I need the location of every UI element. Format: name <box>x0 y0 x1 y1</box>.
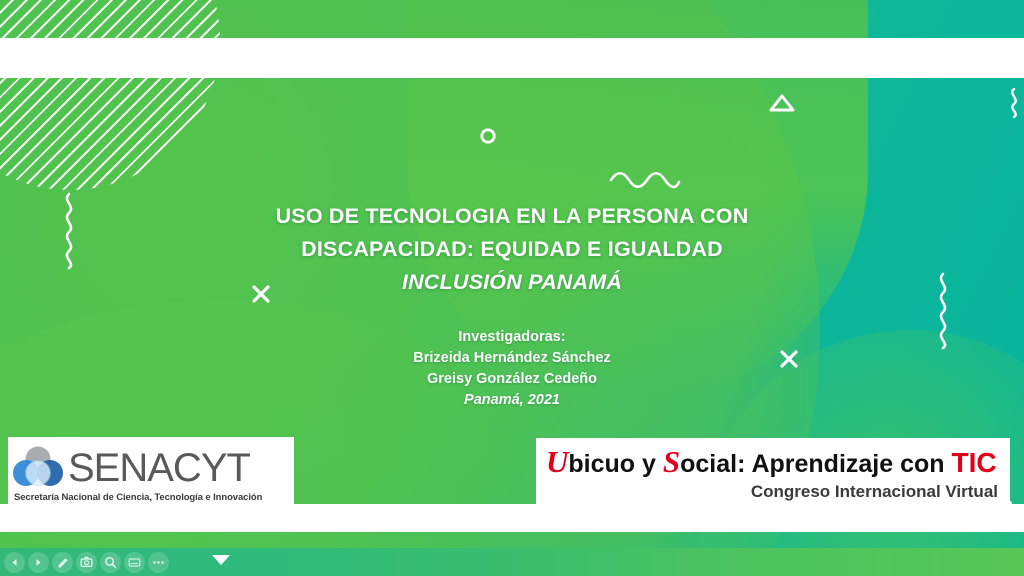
ubicuo-subtitle: Congreso Internacional Virtual <box>546 481 998 503</box>
triangle-right-icon <box>33 557 44 568</box>
senacyt-tagline: Secretaría Nacional de Ciencia, Tecnolog… <box>12 492 290 503</box>
more-options-button[interactable] <box>148 552 169 573</box>
ubicuo-social-logo: Ubicuo y Social: Aprendizaje con TIC Con… <box>536 438 1010 510</box>
presentation-viewer: USO DE TECNOLOGIA EN LA PERSONA CON DISC… <box>0 0 1024 576</box>
ellipsis-icon <box>152 560 165 565</box>
senacyt-emblem-icon <box>12 445 64 491</box>
subtitles-button[interactable] <box>124 552 145 573</box>
squiggle-corner-icon <box>1006 88 1022 118</box>
title-line-3: INCLUSIÓN PANAMÁ <box>0 266 1024 299</box>
camera-icon <box>80 556 93 568</box>
ubicuo-ocial: ocial: <box>680 450 751 478</box>
next-slide-button[interactable] <box>28 552 49 573</box>
ubicuo-u-letter: U <box>546 444 568 479</box>
ubicuo-bicuo-y: bicuo y <box>568 450 662 478</box>
author-name-1: Brizeida Hernández Sánchez <box>0 348 1024 369</box>
ubicuo-tic: TIC <box>951 447 996 478</box>
collapse-toolbar-caret[interactable] <box>208 549 234 575</box>
slide-canvas: USO DE TECNOLOGIA EN LA PERSONA CON DISC… <box>0 0 1024 548</box>
authors-block: Investigadoras: Brizeida Hernández Sánch… <box>0 327 1024 411</box>
ubicuo-a-letter: A <box>751 450 769 478</box>
ubicuo-title-line: Ubicuo y Social: Aprendizaje con TIC <box>546 445 998 481</box>
player-toolbar[interactable] <box>0 548 1024 576</box>
white-band-top <box>0 38 1024 78</box>
slide-title: USO DE TECNOLOGIA EN LA PERSONA CON DISC… <box>0 200 1024 299</box>
pen-icon <box>56 556 69 569</box>
senacyt-wordmark: SENACYT <box>68 448 250 488</box>
screenshot-button[interactable] <box>76 552 97 573</box>
magnifier-icon <box>104 556 117 569</box>
subtitles-icon <box>128 557 141 568</box>
authors-heading: Investigadoras: <box>0 327 1024 348</box>
pen-tool-button[interactable] <box>52 552 73 573</box>
previous-slide-button[interactable] <box>4 552 25 573</box>
triangle-down-icon <box>209 552 233 573</box>
ubicuo-prendizaje-con: prendizaje con <box>770 450 952 478</box>
place-year: Panamá, 2021 <box>0 390 1024 411</box>
ubicuo-s-letter: S <box>663 444 680 479</box>
zoom-button[interactable] <box>100 552 121 573</box>
author-name-2: Greisy González Cedeño <box>0 369 1024 390</box>
title-line-2: DISCAPACIDAD: EQUIDAD E IGUALDAD <box>0 233 1024 266</box>
triangle-left-icon <box>9 557 20 568</box>
title-line-1: USO DE TECNOLOGIA EN LA PERSONA CON <box>0 200 1024 233</box>
senacyt-logo: SENACYT Secretaría Nacional de Ciencia, … <box>8 437 294 507</box>
